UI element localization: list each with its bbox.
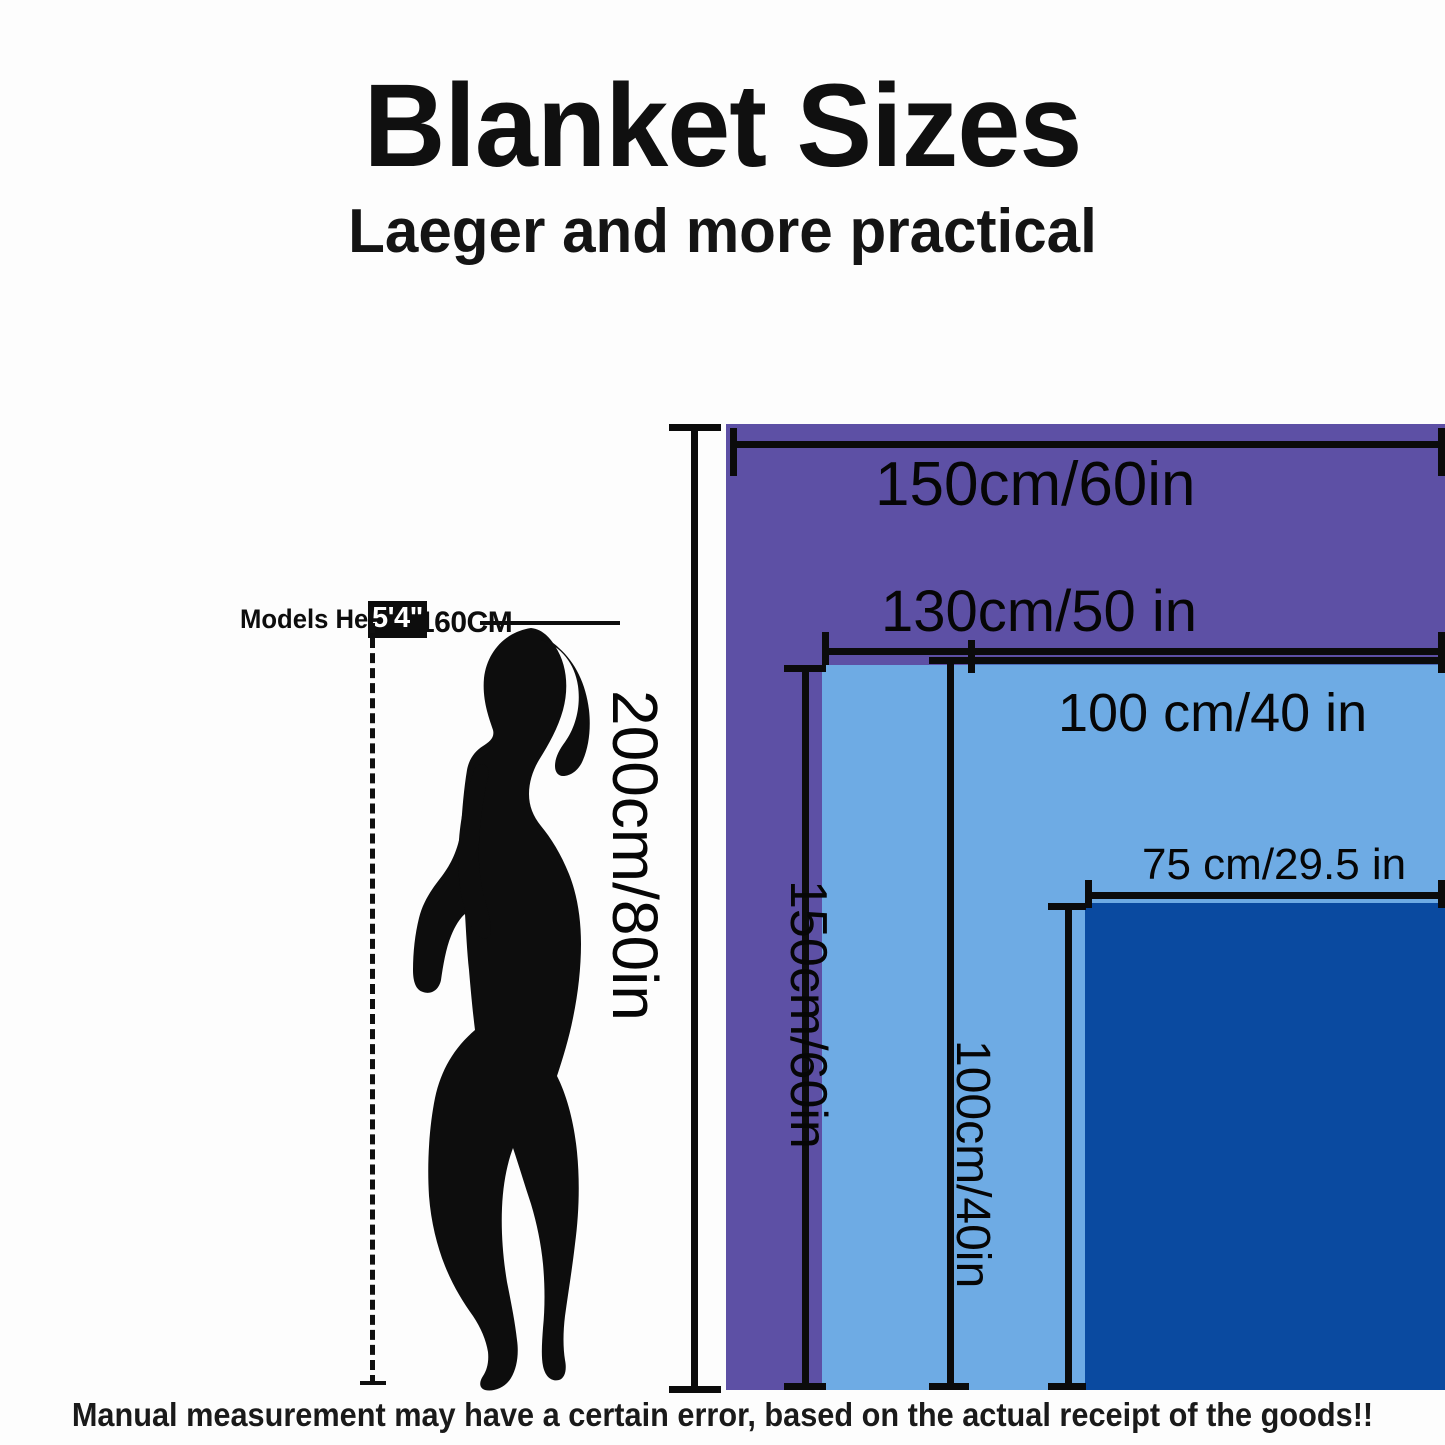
dim-label-150cm-width: 150cm/60in — [875, 449, 1196, 520]
page-title: Blanket Sizes — [29, 58, 1416, 194]
model-baseline-dashed — [370, 623, 375, 1385]
dim-100w-cap-left — [968, 640, 975, 673]
blanket-panel-75 — [1085, 903, 1445, 1390]
dim-150w-cap-left — [730, 428, 737, 476]
dim-150w-line — [730, 441, 1445, 448]
dim-label-200cm: 200cm/80in — [598, 690, 672, 1021]
dim-75w-line — [1085, 892, 1445, 899]
dim-150h-cap-bottom — [784, 1383, 826, 1390]
dim-100w-cap-right — [1438, 640, 1445, 673]
dim-label-100cm-width: 100 cm/40 in — [1058, 682, 1367, 744]
dim-130-divider-cap-bottom — [929, 1383, 969, 1390]
dim-200-line — [691, 424, 698, 1390]
dim-150h-cap-top — [784, 665, 826, 672]
dim-150w-cap-right — [1438, 428, 1445, 476]
dim-label-150cm-height: 150cm/60in — [778, 880, 838, 1149]
dim-130w-cap-left — [822, 632, 829, 665]
blanket-size-chart: Blanket Sizes Laeger and more practical … — [0, 0, 1445, 1445]
dim-75w-cap-right — [1438, 880, 1445, 908]
dim-label-75cm-width: 75 cm/29.5 in — [1142, 840, 1406, 890]
dim-130w-line — [822, 648, 1445, 655]
model-height-rule — [480, 621, 620, 625]
dim-100h-cap-bottom — [1048, 1383, 1086, 1390]
page-subtitle: Laeger and more practical — [22, 196, 1424, 267]
dim-100h-line — [1065, 903, 1072, 1390]
dim-75w-cap-left — [1085, 880, 1092, 908]
dim-200-cap-bottom — [669, 1386, 721, 1393]
disclaimer-note: Manual measurement may have a certain er… — [51, 1396, 1395, 1434]
dim-label-100cm-height: 100cm/40in — [945, 1040, 1000, 1288]
dim-100h-cap-top — [1048, 903, 1086, 910]
dim-200-cap-top — [669, 424, 721, 431]
dim-100w-line — [968, 657, 1445, 664]
dim-label-130cm-width: 130cm/50 in — [881, 578, 1197, 645]
model-baseline-foot-tick — [360, 1381, 386, 1385]
dim-130-divider-cap-top — [929, 657, 969, 664]
